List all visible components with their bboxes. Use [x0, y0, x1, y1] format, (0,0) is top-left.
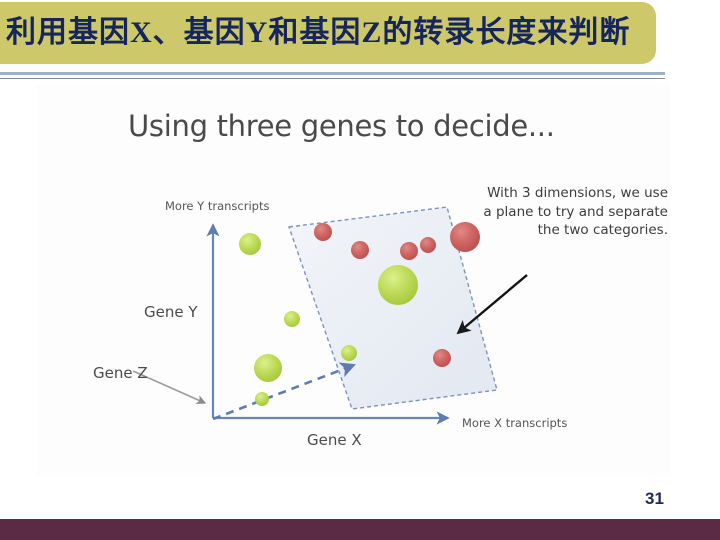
slide-title: 利用基因X、基因Y和基因Z的转录长度来判断	[6, 10, 654, 56]
data-point-green	[341, 345, 357, 361]
data-point-red	[450, 222, 480, 252]
data-point-red	[400, 242, 418, 260]
data-point-green	[254, 354, 282, 382]
data-point-green	[378, 265, 418, 305]
data-point-red	[314, 223, 332, 241]
figure-annotation-text: With 3 dimensions, we use a plane to try…	[480, 184, 668, 240]
data-point-red	[420, 237, 436, 253]
x-axis-name-label: Gene X	[307, 431, 362, 449]
data-point-red	[351, 241, 369, 259]
slide-title-band: 利用基因X、基因Y和基因Z的转录长度来判断	[0, 2, 656, 64]
slide-footer-bar	[0, 519, 720, 540]
data-point-green	[255, 392, 269, 406]
figure-scene	[37, 83, 670, 475]
z-axis-line	[213, 365, 354, 419]
title-divider-thin	[0, 78, 665, 79]
data-point-green	[284, 311, 300, 327]
y-axis-name-label: Gene Y	[144, 303, 198, 321]
title-divider-thick	[0, 72, 665, 75]
data-point-red	[433, 349, 451, 367]
data-point-green	[239, 233, 261, 255]
y-axis-arrow-label: More Y transcripts	[165, 199, 269, 213]
z-axis-name-label: Gene Z	[93, 364, 148, 382]
slide-figure-image: Using three genes to decide...	[37, 83, 670, 475]
x-axis-arrow-label: More X transcripts	[462, 416, 567, 430]
slide-page-number: 31	[645, 489, 664, 509]
